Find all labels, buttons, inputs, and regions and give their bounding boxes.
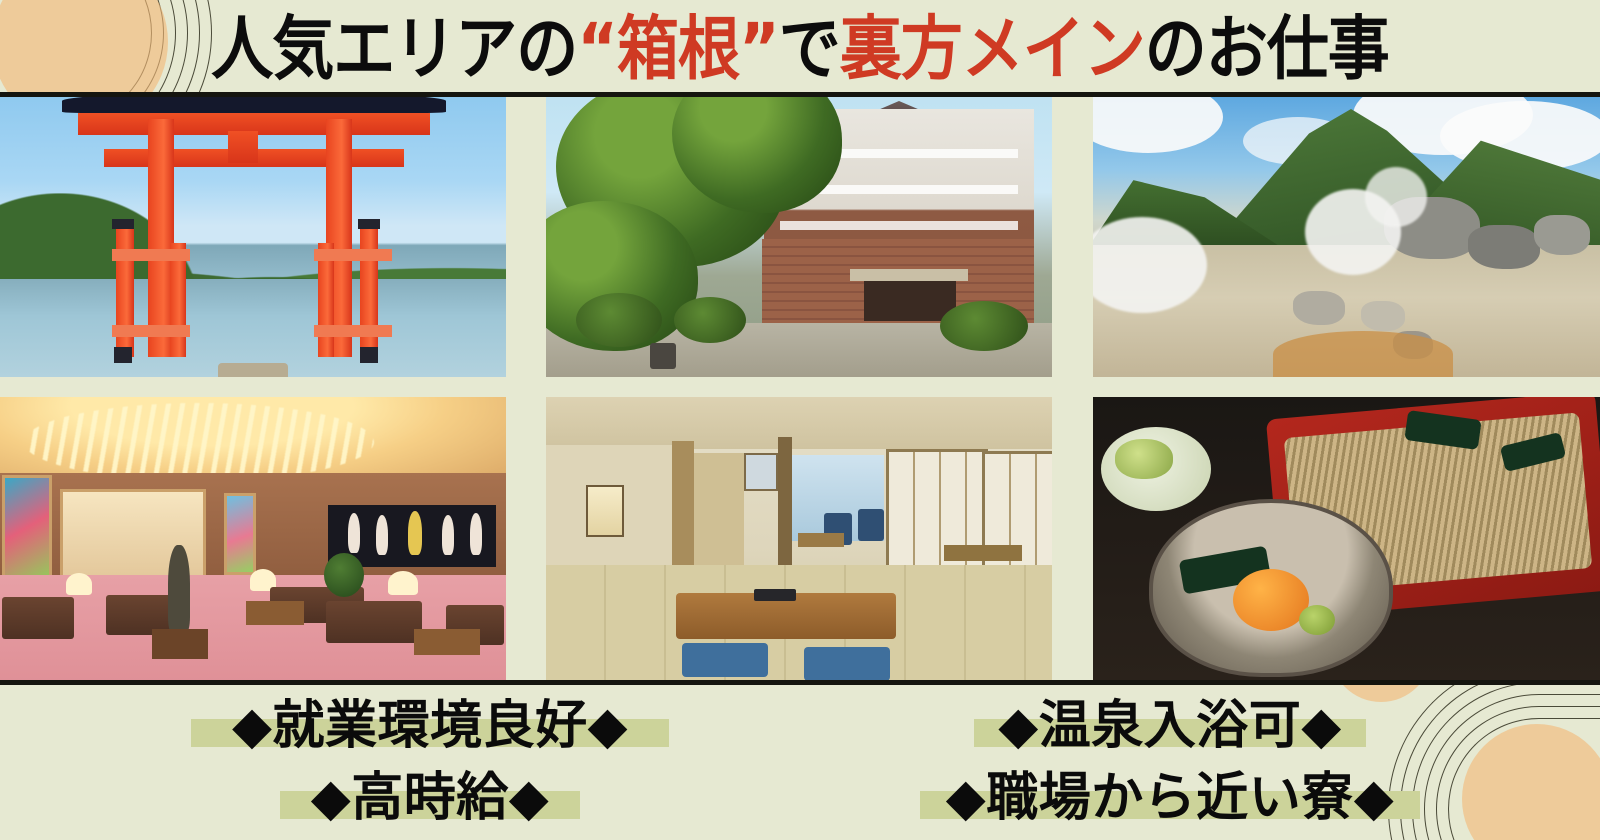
lobby-artwork-left <box>2 475 52 585</box>
room-cushion-left <box>682 643 768 677</box>
feature-bullet-label: ◆温泉入浴可◆ <box>998 700 1341 752</box>
feature-bullet-label: ◆就業環境良好◆ <box>232 700 628 752</box>
room-window-chair-2 <box>858 509 884 541</box>
room-floor-lamp <box>586 485 624 537</box>
headline-segment-3: で <box>779 8 840 90</box>
photo-soba-meal <box>1093 397 1600 683</box>
lobby-table-lamp-1 <box>66 573 92 595</box>
torii-foot-right <box>360 347 378 363</box>
owakudani-cloud-1 <box>1093 97 1223 153</box>
photo-hotel-lobby <box>0 397 506 683</box>
lobby-mural-figure-2 <box>376 515 388 555</box>
ryokan-shrub-1 <box>576 293 662 347</box>
lobby-artwork-center <box>224 493 256 575</box>
room-alcove <box>694 453 744 579</box>
lobby-mural-figure-3 <box>408 511 422 555</box>
torii-foot-left <box>114 347 132 363</box>
room-cushion-right <box>804 647 890 681</box>
room-table-tray <box>754 589 796 601</box>
feature-bullet-label: ◆高時給◆ <box>311 772 549 824</box>
ryokan-entrance <box>864 275 956 321</box>
photo-owakudani <box>1093 97 1600 377</box>
torii-cap-left <box>112 219 134 229</box>
room-side-table <box>798 533 844 547</box>
owakudani-boulder-2 <box>1361 301 1405 331</box>
lobby-sofa-1 <box>2 597 74 639</box>
torii-top-beam <box>62 97 446 113</box>
lobby-sofa-4 <box>326 601 422 643</box>
headline-segment-hakone: “箱根” <box>577 8 779 90</box>
torii-brace-upper-left <box>112 249 190 261</box>
torii-cap-right <box>358 219 380 229</box>
photo-grid <box>0 97 1600 683</box>
owakudani-rock-2 <box>1468 225 1540 269</box>
headline-segment-5: のお仕事 <box>1145 8 1389 90</box>
ryokan-stone-lantern <box>650 343 676 369</box>
photo-ryokan-exterior <box>546 97 1052 377</box>
feature-bullet-high-wage: ◆高時給◆ <box>60 772 800 824</box>
headline-segment-uragata-main: 裏方メイン <box>840 8 1145 90</box>
owakudani-rock-3 <box>1534 215 1590 255</box>
lobby-mural-figure-5 <box>470 513 482 555</box>
lobby-mural-figure-4 <box>442 515 454 555</box>
headline-segment-1: 人気エリアの <box>211 8 577 90</box>
photo-japanese-room <box>546 397 1052 683</box>
torii-stone-step <box>218 363 288 377</box>
feature-bullet-dormitory: ◆職場から近い寮◆ <box>800 772 1540 824</box>
lobby-statue <box>168 545 190 633</box>
divider-top <box>0 92 1600 97</box>
room-pillar <box>672 441 694 581</box>
room-wall-art <box>744 453 778 491</box>
room-ceiling <box>546 397 1052 449</box>
headline-text: 人気エリアの“箱根”で裏方メインのお仕事 <box>211 14 1389 83</box>
room-bench <box>944 545 1022 561</box>
ryokan-shrub-3 <box>940 301 1028 351</box>
lobby-mural-figure-1 <box>348 513 360 553</box>
owakudani-boulder-1 <box>1293 291 1345 325</box>
photo-torii-gate <box>0 97 506 377</box>
lobby-chandelier <box>24 403 374 481</box>
headline: 人気エリアの“箱根”で裏方メインのお仕事 <box>0 6 1600 92</box>
lobby-coffee-table-1 <box>246 601 304 625</box>
feature-bullets: ◆就業環境良好◆ ◆温泉入浴可◆ ◆高時給◆ ◆職場から近い寮◆ <box>0 688 1600 840</box>
feature-bullet-work-environment: ◆就業環境良好◆ <box>60 700 800 752</box>
soba-egg-yolk <box>1233 569 1309 631</box>
ryokan-entrance-canopy <box>850 269 968 281</box>
torii-brace-upper-right <box>314 249 392 261</box>
torii-brace-lower-right <box>314 325 392 337</box>
feature-bullet-onsen: ◆温泉入浴可◆ <box>800 700 1540 752</box>
lobby-statue-plinth <box>152 629 208 659</box>
ryokan-shrub-2 <box>674 297 746 343</box>
feature-bullet-row-1: ◆就業環境良好◆ ◆温泉入浴可◆ <box>0 688 1600 764</box>
job-ad-banner: 人気エリアの“箱根”で裏方メインのお仕事 <box>0 0 1600 840</box>
torii-plaque <box>228 131 258 163</box>
torii-left-support <box>116 225 134 357</box>
divider-bottom <box>0 680 1600 685</box>
feature-bullet-label: ◆職場から近い寮◆ <box>946 772 1394 824</box>
lobby-table-lamp-3 <box>388 571 418 595</box>
owakudani-steam-upper <box>1365 167 1427 227</box>
feature-bullet-row-2: ◆高時給◆ ◆職場から近い寮◆ <box>0 760 1600 836</box>
torii-right-support <box>360 225 378 357</box>
ryokan-balcony-3 <box>780 221 1018 230</box>
soba-side-vegetable <box>1115 439 1173 479</box>
owakudani-sulfur-stain <box>1273 331 1453 377</box>
soba-wasabi <box>1299 605 1335 635</box>
torii-brace-lower-left <box>112 325 190 337</box>
lobby-potted-plant <box>324 553 364 597</box>
lobby-coffee-table-2 <box>414 629 480 655</box>
